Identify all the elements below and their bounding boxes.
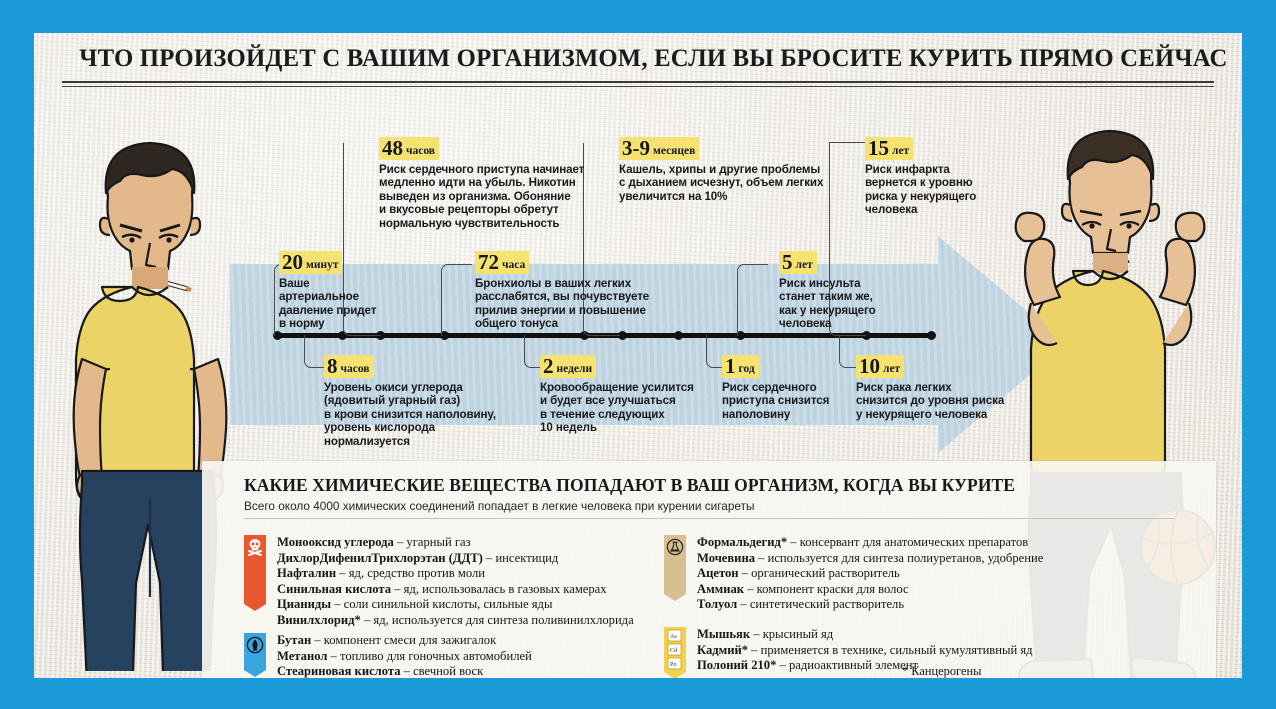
callout-line: приступа снизится [722, 394, 862, 407]
callout-line: и будет все улучшаться [540, 394, 720, 407]
chemicals-panel: КАКИЕ ХИМИЧЕСКИЕ ВЕЩЕСТВА ПОПАДАЮТ В ВАШ… [202, 461, 1216, 678]
callout-line: Кашель, хрипы и другие проблемы [619, 163, 855, 176]
chem-item: ДихлорДифенилТрихлорэтан (ДДТ) – инсекти… [277, 551, 634, 567]
callout-8-chasov: 8часов Уровень окиси углерода (ядовитый … [324, 355, 534, 448]
callout-unit: минут [303, 259, 338, 271]
flask-icon [664, 535, 686, 613]
callout-number: 15 [868, 136, 889, 160]
callout-2-nedeli: 2недели Кровообращение усилится и будет … [540, 355, 720, 435]
chem-item: Винилхлорид* – яд, используется для синт… [277, 613, 634, 629]
callout-15-let: 15лет Риск инфаркта вернется к уровню ри… [865, 137, 1015, 217]
chem-name: Синильная кислота [277, 582, 391, 596]
callout-unit: часов [338, 363, 370, 375]
callout-tag: 15лет [865, 137, 913, 160]
callout-20-minut: 20минут Ваше артериальное давление приде… [279, 251, 429, 331]
callout-line: Риск сердечного [722, 381, 862, 394]
callout-3-9-mesyacev: 3-9месяцев Кашель, хрипы и другие пробле… [619, 137, 855, 203]
callout-unit: лет [889, 145, 909, 157]
chem-desc: – используется для синтеза полиуретанов,… [755, 551, 1043, 565]
chem-name: Мочевина [697, 551, 755, 565]
chem-item: Кадмий* – применяется в технике, сильный… [697, 643, 1033, 659]
callout-tag: 8часов [324, 355, 374, 378]
callout-body: Уровень окиси углерода (ядовитый угарный… [324, 381, 534, 448]
callout-line: медленно идти на убыль. Никотин [379, 176, 611, 189]
callout-unit: недели [554, 363, 593, 375]
chem-name: Аммиак [697, 582, 744, 596]
title-text: ЧТО ПРОИЗОЙДЕТ С ВАШИМ ОРГАНИЗМОМ, ЕСЛИ … [79, 43, 1196, 73]
chem-item: Бутан – компонент смеси для зажигалок [277, 633, 532, 649]
callout-tag: 2недели [540, 355, 596, 378]
callout-body: Риск инсульта станет таким же, как у нек… [779, 277, 929, 331]
callout-line: человека [865, 203, 1015, 216]
chem-name: Мышьяк [697, 627, 750, 641]
callout-line: и вкусовые рецепторы обретут [379, 203, 611, 216]
chem-desc: – органический растворитель [739, 566, 900, 580]
chem-desc: – инсектицид [483, 551, 559, 565]
chem-name: Нафталин [277, 566, 336, 580]
chem-name: Формальдегид* [697, 535, 787, 549]
chem-list: Монооксид углерода – угарный газ ДихлорД… [277, 535, 634, 629]
callout-number: 3-9 [622, 136, 650, 160]
callout-number: 48 [382, 136, 403, 160]
chem-desc: – яд, средство против моли [336, 566, 485, 580]
chem-desc: – угарный газ [394, 535, 471, 549]
callout-line: станет таким же, [779, 290, 929, 303]
chem-name: Метанол [277, 649, 327, 663]
periodic-elements-icon: As Cd Po [664, 627, 686, 678]
callout-tag: 5лет [779, 251, 817, 274]
chem-name: Стеариновая кислота [277, 664, 401, 678]
callout-line: нормальную чувствительность [379, 217, 611, 230]
chem-name: Полоний 210* [697, 658, 776, 672]
chem-item: Толуол – синтетический растворитель [697, 597, 1043, 613]
chem-desc: – свечной воск [401, 664, 484, 678]
chem-desc: – топливо для гоночных автомобилей [327, 649, 531, 663]
chemicals-title: КАКИЕ ХИМИЧЕСКИЕ ВЕЩЕСТВА ПОПАДАЮТ В ВАШ… [244, 475, 1015, 496]
callout-line: (ядовитый угарный газ) [324, 394, 534, 407]
element-symbol: Cd [670, 648, 677, 654]
callout-line: артериальное [279, 290, 429, 303]
callout-line: Риск сердечного приступа начинает [379, 163, 611, 176]
callout-body: Кровообращение усилится и будет все улуч… [540, 381, 720, 435]
callout-number: 2 [543, 354, 554, 378]
callout-body: Ваше артериальное давление придет в норм… [279, 277, 429, 331]
callout-line: уровень кислорода [324, 421, 534, 434]
callout-line: Бронхиолы в ваших легких [475, 277, 675, 290]
callout-tag: 48часов [379, 137, 439, 160]
chem-desc: – консервант для анатомических препарато… [787, 535, 1028, 549]
chem-name: Толуол [697, 597, 737, 611]
callout-number: 1 [725, 354, 736, 378]
callout-line: 10 недель [540, 421, 720, 434]
callout-line: расслабятся, вы почувствуете [475, 290, 675, 303]
chem-item: Синильная кислота – яд, использовалась в… [277, 582, 634, 598]
chem-name: Бутан [277, 633, 311, 647]
callout-line: давление придет [279, 304, 429, 317]
chem-name: Кадмий* [697, 643, 748, 657]
chem-name: Монооксид углерода [277, 535, 394, 549]
chem-item: Полоний 210* – радиоактивный элемент [697, 658, 1033, 674]
callout-line: человека [779, 317, 929, 330]
paper-sheet: ЧТО ПРОИЗОЙДЕТ С ВАШИМ ОРГАНИЗМОМ, ЕСЛИ … [34, 33, 1242, 678]
timeline-dot [927, 331, 936, 340]
callout-tag: 1год [722, 355, 759, 378]
callout-number: 20 [282, 250, 303, 274]
chem-group-poisons: Монооксид углерода – угарный газ ДихлорД… [244, 535, 634, 629]
callout-48-chasov: 48часов Риск сердечного приступа начинае… [379, 137, 611, 230]
chem-desc: – яд, используется для синтеза поливинил… [361, 613, 634, 627]
callout-line: в норму [279, 317, 429, 330]
chem-desc: – применяется в технике, сильный кумулят… [748, 643, 1033, 657]
chemicals-divider [244, 518, 1174, 519]
element-symbol: Po [670, 662, 676, 668]
callout-line: Риск инфаркта [865, 163, 1015, 176]
chem-name: Цианиды [277, 597, 331, 611]
chemicals-footnote: * Канцерогены [902, 664, 981, 678]
callout-tag: 10лет [856, 355, 904, 378]
callout-line: наполовину [722, 408, 862, 421]
callout-body: Бронхиолы в ваших легких расслабятся, вы… [475, 277, 675, 331]
callout-line: прилив энергии и повышение [475, 304, 675, 317]
chemicals-subtitle: Всего около 4000 химических соединений п… [244, 499, 754, 513]
callout-tag: 20минут [279, 251, 342, 274]
connector-5let [737, 264, 768, 336]
chem-name: Ацетон [697, 566, 739, 580]
callout-unit: месяцев [650, 145, 695, 157]
chem-group-solvents: Формальдегид* – консервант для анатомиче… [664, 535, 1043, 613]
callout-unit: часа [499, 259, 525, 271]
callout-line: общего тонуса [475, 317, 675, 330]
callout-line: вернется к уровню [865, 176, 1015, 189]
chem-item: Мочевина – используется для синтеза поли… [697, 551, 1043, 567]
callout-body: Риск сердечного приступа снизится наполо… [722, 381, 862, 421]
callout-unit: лет [880, 363, 900, 375]
callout-tag: 3-9месяцев [619, 137, 699, 160]
chem-desc: – крысиный яд [750, 627, 833, 641]
callout-line: как у некурящего [779, 304, 929, 317]
callout-line: нормализуется [324, 435, 534, 448]
chem-name: ДихлорДифенилТрихлорэтан (ДДТ) [277, 551, 483, 565]
callout-line: с дыханием исчезнут, объем легких [619, 176, 855, 189]
infographic-poster: ЧТО ПРОИЗОЙДЕТ С ВАШИМ ОРГАНИЗМОМ, ЕСЛИ … [0, 0, 1276, 709]
skull-crossbones-icon [244, 535, 266, 629]
element-symbol: As [670, 634, 677, 640]
title-divider [62, 81, 1214, 87]
chem-item: Стеариновая кислота – свечной воск [277, 664, 532, 678]
callout-line: Ваше [279, 277, 429, 290]
callout-line: в крови снизится наполовину, [324, 408, 534, 421]
callout-line: Риск инсульта [779, 277, 929, 290]
chem-desc: – соли синильной кислоты, сильные яды [331, 597, 552, 611]
callout-number: 72 [478, 250, 499, 274]
callout-line: риска у некурящего [865, 190, 1015, 203]
chem-item: Ацетон – органический растворитель [697, 566, 1043, 582]
callout-tag: 72часа [475, 251, 529, 274]
chem-group-fuels: Бутан – компонент смеси для зажигалок Ме… [244, 633, 532, 678]
callout-body: Риск инфаркта вернется к уровню риска у … [865, 163, 1015, 217]
chem-name: Винилхлорид* [277, 613, 361, 627]
chem-desc: – радиоактивный элемент [776, 658, 918, 672]
chem-desc: – яд, использовалась в газовых камерах [391, 582, 607, 596]
chem-item: Метанол – топливо для гоночных автомобил… [277, 649, 532, 665]
callout-line: увеличится на 10% [619, 190, 855, 203]
callout-line: в течение следующих [540, 408, 720, 421]
chem-list: Бутан – компонент смеси для зажигалок Ме… [277, 633, 532, 678]
chem-desc: – синтетический растворитель [737, 597, 904, 611]
chem-item: Формальдегид* – консервант для анатомиче… [697, 535, 1043, 551]
callout-body: Риск сердечного приступа начинает медлен… [379, 163, 611, 230]
chem-item: Монооксид углерода – угарный газ [277, 535, 634, 551]
callout-number: 8 [327, 354, 338, 378]
callout-unit: лет [793, 259, 813, 271]
callout-body: Кашель, хрипы и другие проблемы с дыхани… [619, 163, 855, 203]
chem-item: Мышьяк – крысиный яд [697, 627, 1033, 643]
callout-line: Уровень окиси углерода [324, 381, 534, 394]
callout-line: Кровообращение усилится [540, 381, 720, 394]
callout-line: выведен из организма. Обоняние [379, 190, 611, 203]
callout-number: 10 [859, 354, 880, 378]
chem-item: Цианиды – соли синильной кислоты, сильны… [277, 597, 634, 613]
connector-72h [441, 264, 472, 336]
chem-desc: – компонент краски для волос [744, 582, 909, 596]
callout-72-chasa: 72часа Бронхиолы в ваших легких расслабя… [475, 251, 675, 331]
callout-unit: часов [403, 145, 435, 157]
page-title: ЧТО ПРОИЗОЙДЕТ С ВАШИМ ОРГАНИЗМОМ, ЕСЛИ … [62, 43, 1214, 73]
callout-unit: год [736, 363, 755, 375]
callout-1-god: 1год Риск сердечного приступа снизится н… [722, 355, 862, 421]
callout-number: 5 [782, 250, 793, 274]
chem-item: Аммиак – компонент краски для волос [697, 582, 1043, 598]
callout-5-let: 5лет Риск инсульта станет таким же, как … [779, 251, 929, 331]
chem-list: Формальдегид* – консервант для анатомиче… [697, 535, 1043, 613]
chem-item: Нафталин – яд, средство против моли [277, 566, 634, 582]
chem-desc: – компонент смеси для зажигалок [311, 633, 496, 647]
chem-list: Мышьяк – крысиный яд Кадмий* – применяет… [697, 627, 1033, 678]
lighter-flame-icon [244, 633, 266, 678]
timeline-dot [674, 331, 683, 340]
